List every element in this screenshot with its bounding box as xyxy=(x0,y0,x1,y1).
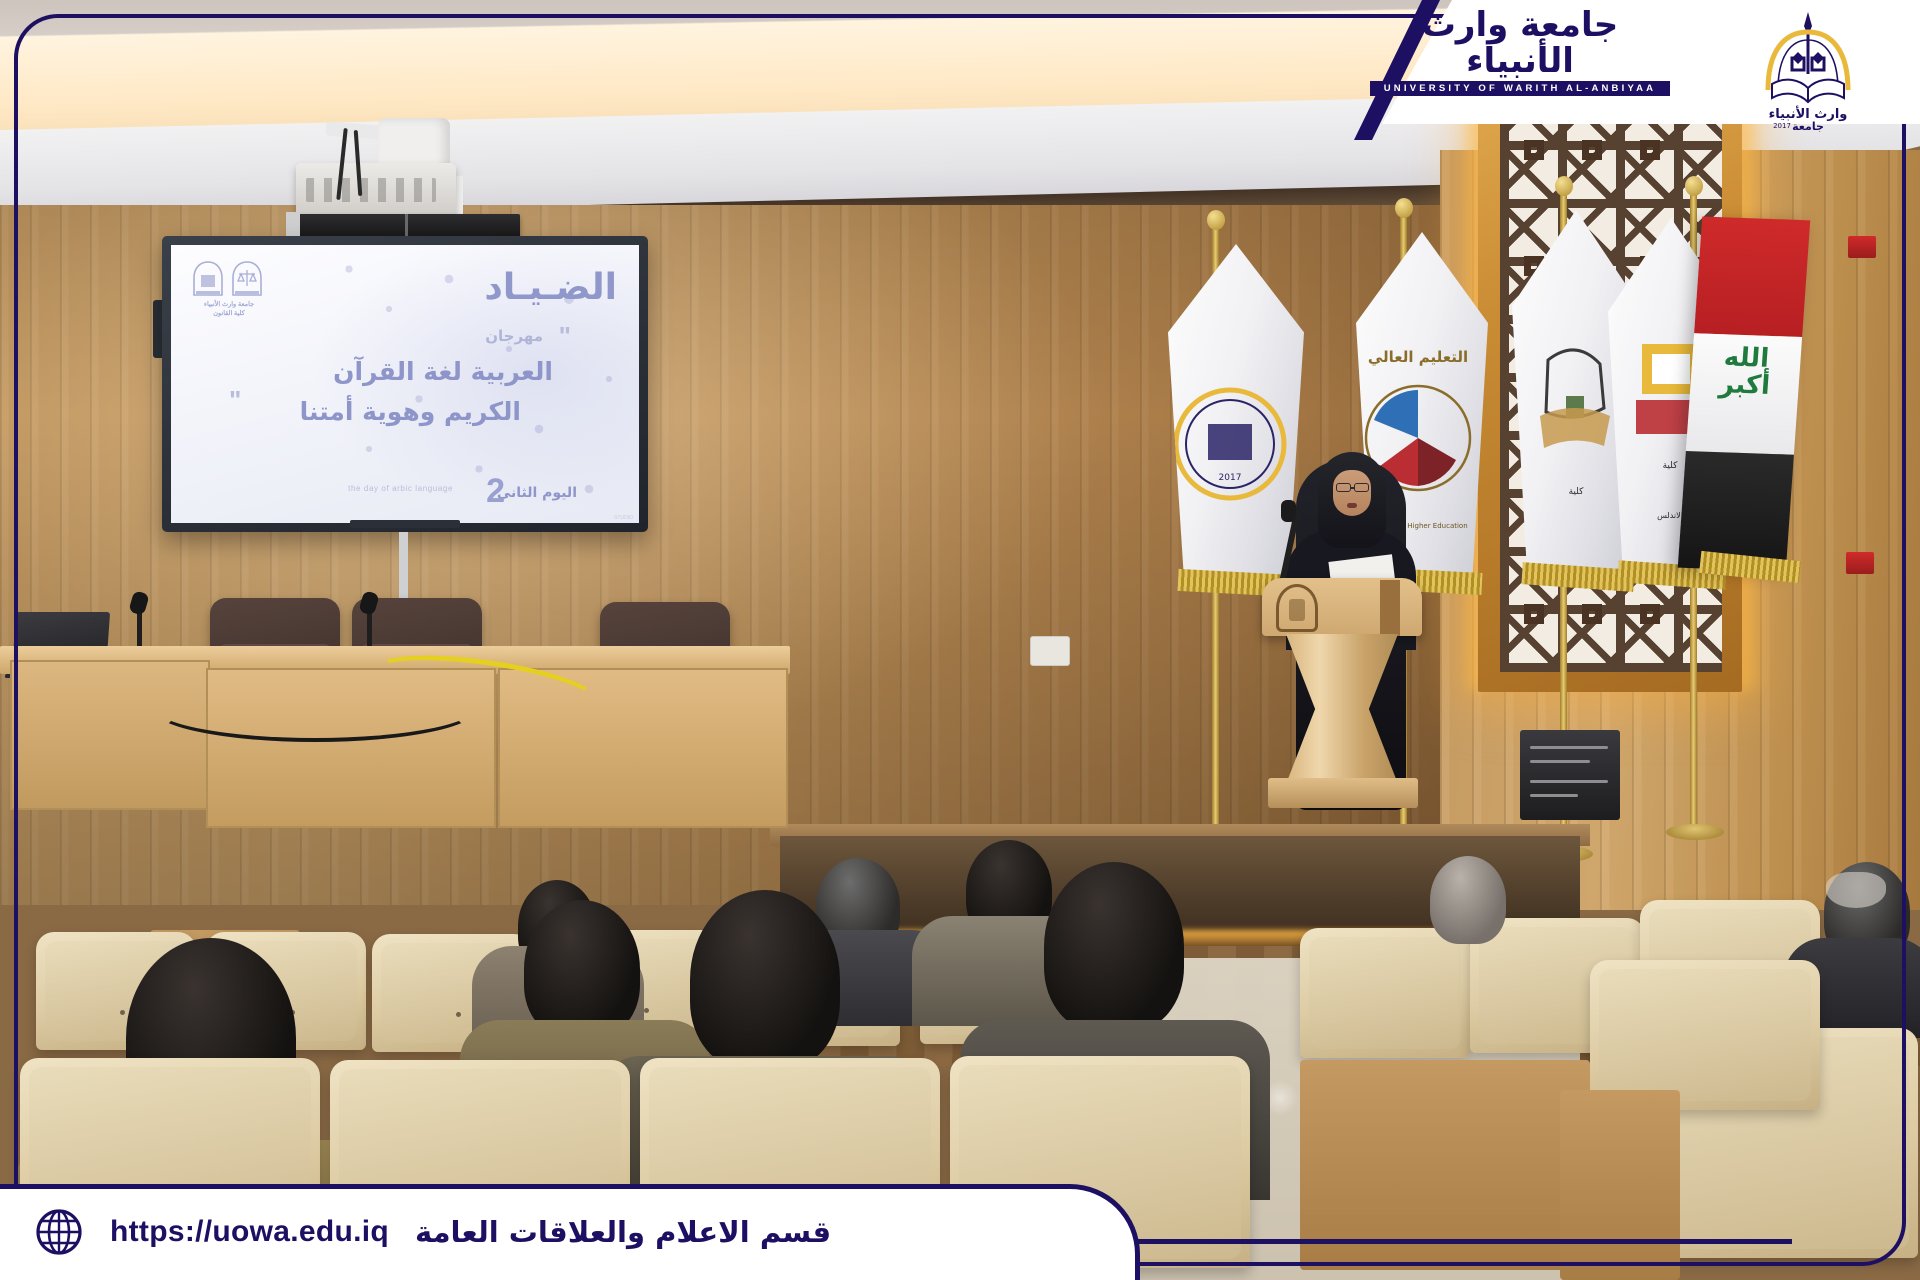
slide-headline: الضـيـاد xyxy=(484,267,617,308)
slide-title-line-1: العربية لغة القرآن xyxy=(333,357,553,386)
svg-text:الاندلس: الاندلس xyxy=(1657,511,1683,520)
seat-frame xyxy=(1300,1060,1590,1270)
speaker-mouth xyxy=(1347,503,1357,508)
interactive-smartboard: جامعة وارث الأنبياء كلية القانون الضـيـا… xyxy=(162,236,648,532)
audience-seat xyxy=(1300,928,1470,1058)
audience-member-mask xyxy=(1826,872,1886,908)
wall-socket xyxy=(1030,636,1070,666)
event-photograph: جامعة وارث الأنبياء كلية القانون الضـيـا… xyxy=(0,0,1920,1280)
audience-member-head xyxy=(1430,856,1506,944)
presentation-slide: جامعة وارث الأنبياء كلية القانون الضـيـا… xyxy=(171,245,639,523)
flagpole-finial xyxy=(1555,176,1573,196)
svg-text:2017: 2017 xyxy=(1219,473,1242,483)
flagpole-finial xyxy=(1395,198,1413,218)
audio-amplifier-rack xyxy=(1520,730,1620,820)
speaker-face xyxy=(1333,470,1371,516)
podium-inlay-stripe xyxy=(1380,580,1400,636)
iraq-flag-takbir: الله أكبر xyxy=(1698,343,1794,401)
ceiling-camera xyxy=(1700,78,1722,98)
podium-microphone-head xyxy=(1281,500,1296,522)
audience-member-head-foreground xyxy=(1044,862,1184,1032)
slide-org-line1: جامعة وارث الأنبياء xyxy=(185,301,273,310)
audience-member-head-foreground xyxy=(690,890,840,1070)
flagpole-finial xyxy=(1207,210,1225,230)
podium-base xyxy=(1268,778,1418,808)
slide-org-lines: جامعة وارث الأنبياء كلية القانون xyxy=(185,301,273,319)
slide-quote-open: " xyxy=(559,321,571,352)
fire-alarm-icon xyxy=(1848,236,1876,258)
university-crest-icon xyxy=(1276,584,1318,632)
iraq-flag-red-band xyxy=(1694,217,1810,338)
iraq-flag-black-band xyxy=(1678,451,1794,572)
slide-quote-close: " xyxy=(229,385,241,416)
audience-seat xyxy=(1590,960,1820,1110)
head-table-section xyxy=(10,660,210,810)
display-stand-base xyxy=(350,520,460,528)
flagpole-base xyxy=(1666,824,1724,840)
audience-seat-foreground xyxy=(640,1058,940,1268)
seat-frame xyxy=(1560,1090,1680,1280)
slide-org-line2: كلية القانون xyxy=(185,310,273,319)
audience-seat-foreground xyxy=(330,1060,630,1260)
slide-english-subtitle: the day of arbic language xyxy=(348,484,453,493)
slide-day-number: 2 xyxy=(486,472,505,511)
slide-day-label: اليوم الثاني xyxy=(497,485,577,501)
speaker-glasses-right-lens xyxy=(1354,483,1369,492)
fire-alarm-icon xyxy=(1846,552,1874,574)
svg-text:التعليم العالي: التعليم العالي xyxy=(1368,348,1468,366)
audience-seat-foreground xyxy=(20,1058,320,1258)
audience-member-head xyxy=(524,900,640,1038)
slide-logos xyxy=(191,261,264,299)
svg-text:كلية: كلية xyxy=(1569,487,1585,497)
slide-title-line-2: الكريم وهوية أمتنا xyxy=(300,397,521,426)
slide-brand-mark: STUDIO xyxy=(614,515,633,521)
slide-festival-word: مهرجان xyxy=(485,327,543,345)
svg-text:كلية: كلية xyxy=(1663,461,1679,471)
projector-ports xyxy=(306,178,436,202)
law-college-crest-icon xyxy=(230,261,264,299)
university-crest-icon xyxy=(191,261,225,299)
audience-seat-foreground xyxy=(950,1056,1250,1268)
speaker-glasses-bridge xyxy=(1351,487,1354,489)
black-cable xyxy=(150,672,480,742)
speaker-glasses-left-lens xyxy=(1336,483,1351,492)
flagpole-finial xyxy=(1685,176,1703,196)
